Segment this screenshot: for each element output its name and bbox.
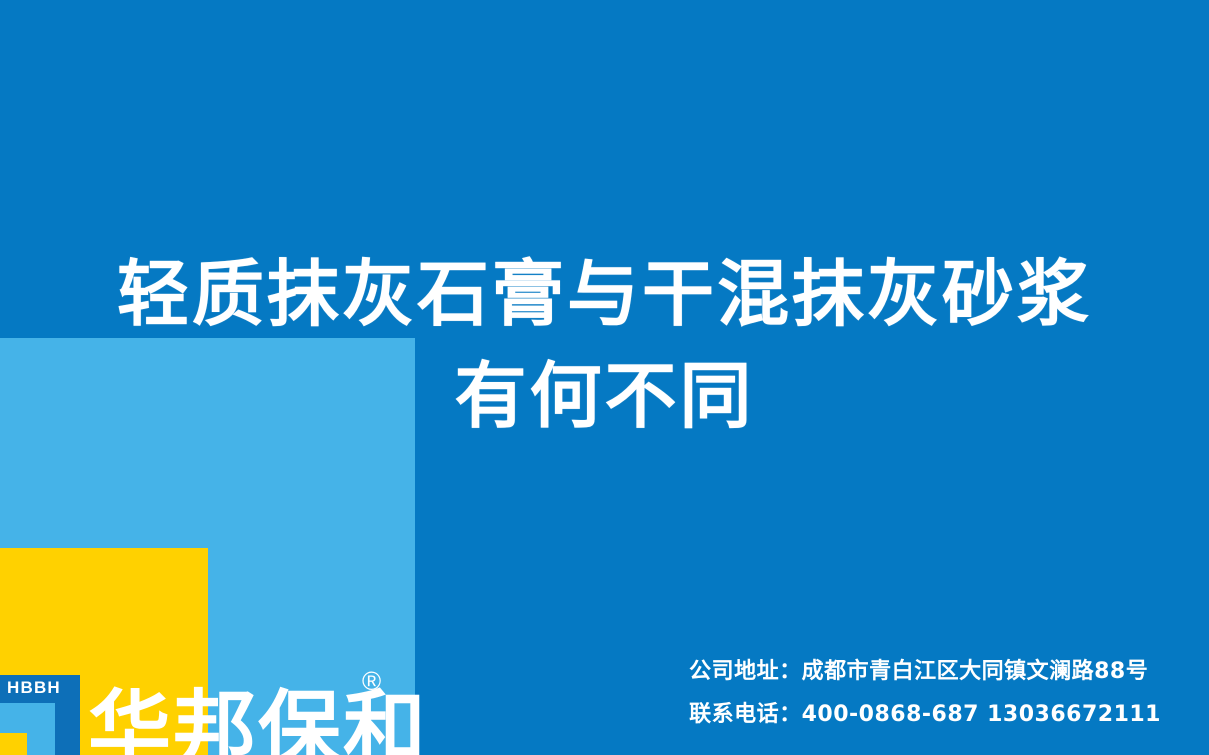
page-title: 轻质抹灰石膏与干混抹灰砂浆 有何不同 [0,243,1209,447]
page-title-line-2: 有何不同 [0,345,1209,447]
company-wordmark: 华邦保和 [88,688,428,755]
logo-inner-yellow-square [0,733,27,755]
company-logo-mark: HBBH [0,675,80,755]
contact-phone: 联系电话：400-0868-687 13036672111 [689,694,1161,737]
contact-info: 公司地址：成都市青白江区大同镇文澜路88号 联系电话：400-0868-687 … [689,651,1161,737]
contact-address: 公司地址：成都市青白江区大同镇文澜路88号 [689,651,1161,694]
page-title-line-1: 轻质抹灰石膏与干混抹灰砂浆 [0,243,1209,345]
slide-canvas: 轻质抹灰石膏与干混抹灰砂浆 有何不同 HBBH 华邦保和 ® 公司地址：成都市青… [0,0,1209,755]
logo-mark-initials: HBBH [7,679,61,696]
registered-trademark-icon: ® [362,668,381,694]
